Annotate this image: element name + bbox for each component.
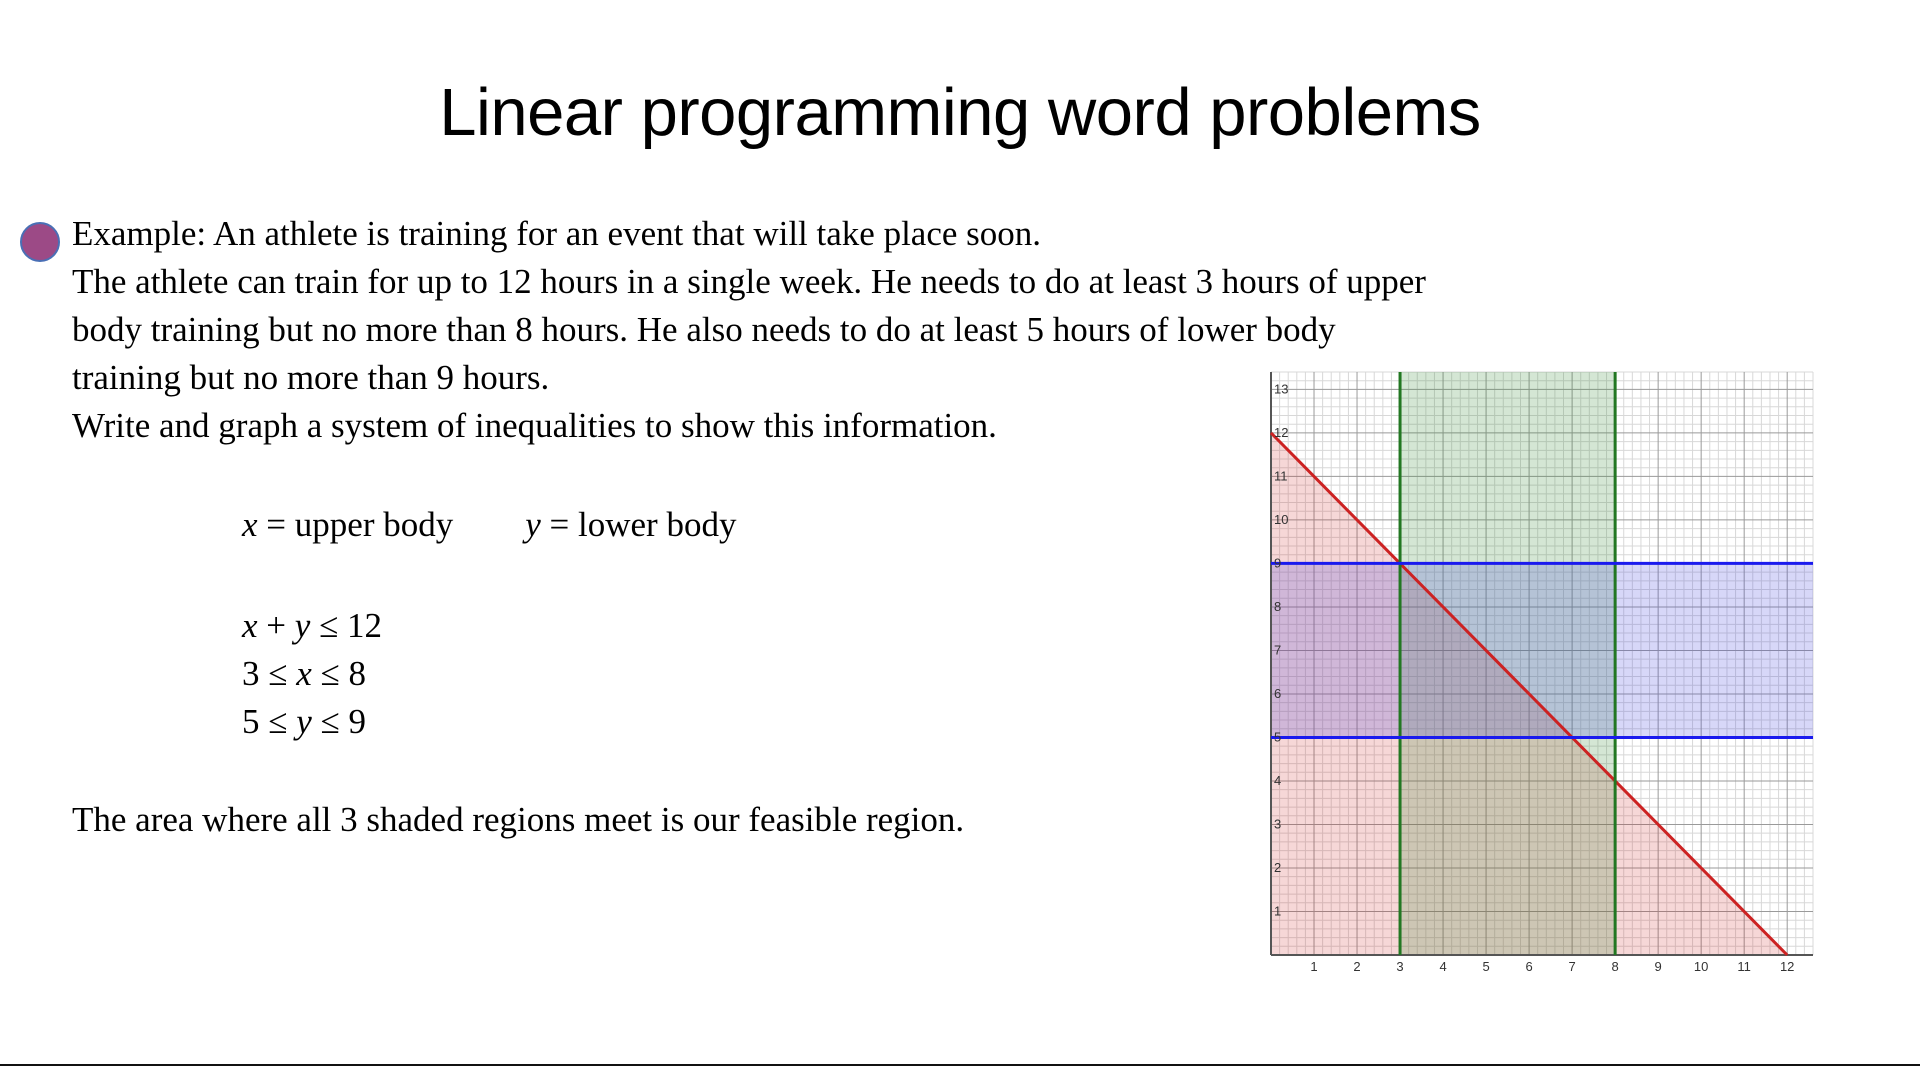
y-tick-label: 10 (1274, 512, 1288, 527)
body-text-block: Example: An athlete is training for an e… (20, 210, 1260, 450)
inequality-system: x + y ≤ 12 3 ≤ x ≤ 8 5 ≤ y ≤ 9 (242, 602, 382, 746)
inequality-line-2: 3 ≤ x ≤ 8 (242, 650, 382, 698)
variable-y-symbol: y (525, 505, 541, 544)
ineq3-lhs: 5 ≤ (242, 702, 296, 741)
body-paragraph-1: Example: An athlete is training for an e… (72, 210, 1260, 258)
bullet-point-marker (20, 222, 60, 262)
ineq2-x: x (296, 654, 312, 693)
ineq2-lhs: 3 ≤ (242, 654, 296, 693)
ineq3-rhs: ≤ 9 (312, 702, 366, 741)
body-paragraph-2: The athlete can train for up to 12 hours… (72, 258, 1260, 306)
ineq1-plus: + (258, 606, 295, 645)
ineq1-x: x (242, 606, 258, 645)
x-tick-label: 1 (1310, 959, 1317, 974)
x-tick-label: 10 (1694, 959, 1708, 974)
x-tick-label: 6 (1525, 959, 1532, 974)
graph-svg: 12345678910111213123456789101112 (1243, 368, 1821, 983)
body-paragraph-4: training but no more than 9 hours. (72, 354, 1260, 402)
ineq1-rhs: ≤ 12 (310, 606, 382, 645)
variable-y-meaning: = lower body (541, 505, 737, 544)
x-tick-label: 4 (1439, 959, 1446, 974)
inequality-line-1: x + y ≤ 12 (242, 602, 382, 650)
y-tick-label: 7 (1274, 642, 1281, 657)
x-tick-label: 7 (1568, 959, 1575, 974)
body-paragraph-5: Write and graph a system of inequalities… (72, 402, 1260, 450)
y-tick-label: 12 (1274, 425, 1288, 440)
x-tick-label: 9 (1655, 959, 1662, 974)
slide-bottom-rule (0, 1064, 1920, 1066)
y-tick-label: 11 (1274, 468, 1288, 483)
constraint-horizontal-band (1271, 563, 1813, 737)
x-tick-label: 12 (1780, 959, 1794, 974)
y-tick-label: 9 (1274, 555, 1281, 570)
closing-statement: The area where all 3 shaded regions meet… (72, 800, 964, 840)
slide-root: Linear programming word problems Example… (0, 0, 1920, 1080)
body-paragraph-3: body training but no more than 8 hours. … (72, 306, 1260, 354)
y-tick-label: 1 (1274, 903, 1281, 918)
y-tick-label: 3 (1274, 816, 1281, 831)
variable-x-symbol: x (242, 505, 258, 544)
page-title: Linear programming word problems (0, 78, 1920, 148)
shaded-region (1271, 563, 1813, 737)
y-tick-label: 8 (1274, 599, 1281, 614)
ineq3-y: y (296, 702, 312, 741)
x-tick-label: 8 (1612, 959, 1619, 974)
x-tick-label: 5 (1482, 959, 1489, 974)
y-tick-label: 5 (1274, 729, 1281, 744)
variable-definitions: x = upper bodyy = lower body (242, 505, 736, 545)
y-tick-label: 13 (1274, 381, 1288, 396)
x-tick-label: 2 (1353, 959, 1360, 974)
inequality-graph: 12345678910111213123456789101112 (1243, 368, 1821, 983)
ineq2-rhs: ≤ 8 (312, 654, 366, 693)
ineq1-y: y (295, 606, 311, 645)
y-tick-label: 2 (1274, 860, 1281, 875)
x-tick-label: 11 (1737, 959, 1751, 974)
x-tick-label: 3 (1396, 959, 1403, 974)
y-tick-label: 4 (1274, 773, 1281, 788)
inequality-line-3: 5 ≤ y ≤ 9 (242, 698, 382, 746)
variable-x-meaning: = upper body (258, 505, 454, 544)
y-tick-label: 6 (1274, 686, 1281, 701)
